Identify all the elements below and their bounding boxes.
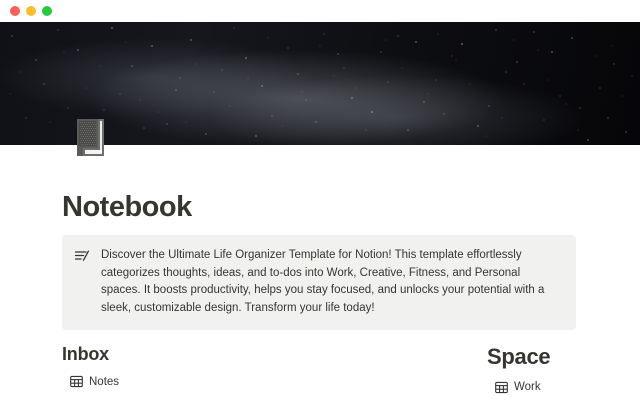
maximize-button[interactable] — [42, 6, 52, 16]
edit-lines-icon — [74, 248, 91, 265]
inbox-heading[interactable]: Inbox — [62, 345, 119, 365]
section-space: Space Work — [487, 345, 550, 394]
close-button[interactable] — [10, 6, 20, 16]
callout-text: Discover the Ultimate Life Organizer Tem… — [101, 247, 562, 317]
callout-block[interactable]: Discover the Ultimate Life Organizer Tem… — [62, 235, 576, 330]
page-title[interactable]: Notebook — [62, 193, 192, 222]
list-item[interactable]: Work — [495, 380, 550, 394]
page-content: Notebook Discover the Ultimate Life Orga… — [0, 145, 640, 400]
space-heading[interactable]: Space — [487, 345, 550, 369]
notebook-icon[interactable] — [70, 118, 112, 158]
table-database-icon — [495, 381, 508, 394]
list-item-label: Notes — [89, 375, 119, 389]
minimize-button[interactable] — [26, 6, 36, 16]
list-item-label: Work — [514, 380, 541, 394]
table-database-icon — [70, 375, 83, 388]
window-titlebar — [0, 0, 640, 22]
section-inbox: Inbox Notes — [62, 345, 119, 389]
list-item[interactable]: Notes — [70, 375, 119, 389]
